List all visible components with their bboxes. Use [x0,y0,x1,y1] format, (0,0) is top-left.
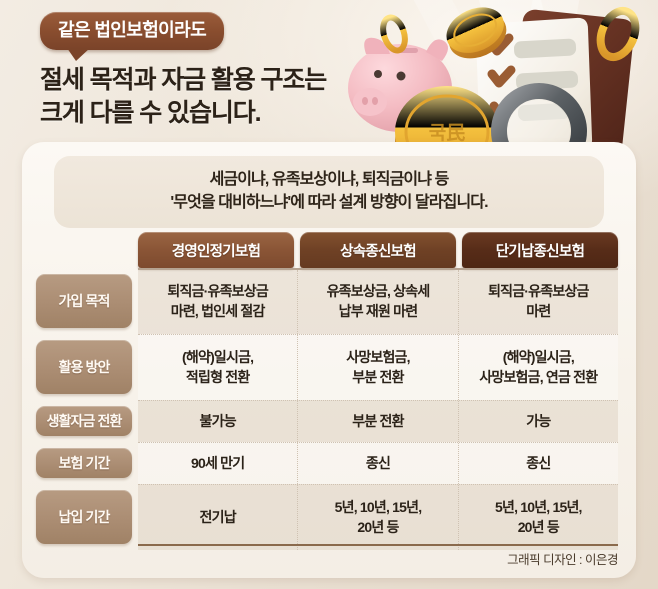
row-label: 생활자금 전환 [36,406,132,436]
row-label-cell: 활용 방안 [30,334,138,400]
gold-coin-icon [439,0,513,67]
subtitle-box: 세금이냐, 유족보상이냐, 퇴직금이냐 등 '무엇을 대비하느냐'에 따라 설계… [54,156,604,228]
row-label: 가입 목적 [36,274,132,328]
table-cell: 5년, 10년, 15년, 20년 등 [297,485,457,550]
row-label: 활용 방안 [36,340,132,394]
table-row: 보험 기간 90세 만기 종신 종신 [30,442,618,484]
table-row: 활용 방안 (해약)일시금, 적립형 전환 사망보험금, 부분 전환 (해약)일… [30,334,618,400]
table-row: 납입 기간 전기납 5년, 10년, 15년, 20년 등 5년, 10년, 1… [30,484,618,550]
subtitle-line-2: '무엇을 대비하느냐'에 따라 설계 방향이 달라집니다. [64,191,594,214]
table-cell: 전기납 [138,485,297,550]
table-cell: 5년, 10년, 15년, 20년 등 [458,485,618,550]
row-label: 보험 기간 [36,448,132,478]
table-cell: 가능 [458,401,618,442]
table-cell: 90세 만기 [138,443,297,484]
table-header-row: 경영인정기보험 상속종신보험 단기납종신보험 [138,232,618,268]
content-card: 세금이냐, 유족보상이냐, 퇴직금이냐 등 '무엇을 대비하느냐'에 따라 설계… [22,142,636,578]
badge-bubble: 같은 법인보험이라도 [40,12,224,50]
table-column-header: 상속종신보험 [300,232,456,268]
table-row: 생활자금 전환 불가능 부분 전환 가능 [30,400,618,442]
comparison-table: 경영인정기보험 상속종신보험 단기납종신보험 가입 목적 퇴직금·유족보상금 마… [30,232,628,568]
row-label-cell: 생활자금 전환 [30,400,138,442]
row-cells: (해약)일시금, 적립형 전환 사망보험금, 부분 전환 (해약)일시금, 사망… [138,334,618,400]
row-cells: 불가능 부분 전환 가능 [138,400,618,442]
table-bottom-rule [138,544,618,546]
table-cell: 불가능 [138,401,297,442]
credit-text: 그래픽 디자인 : 이은경 [507,549,618,568]
light-ray [506,0,586,161]
table-cell: (해약)일시금, 적립형 전환 [138,335,297,400]
table-cell: 퇴직금·유족보상금 마련, 법인세 절감 [138,270,297,334]
row-label-cell: 가입 목적 [30,268,138,334]
row-label: 납입 기간 [36,490,132,544]
table-cell: 종신 [297,443,457,484]
table-body: 가입 목적 퇴직금·유족보상금 마련, 법인세 절감 유족보상금, 상속세 납부… [30,268,618,546]
row-cells: 90세 만기 종신 종신 [138,442,618,484]
gold-ring-icon [594,6,642,62]
table-cell: 퇴직금·유족보상금 마련 [458,270,618,334]
title-line-1: 절세 목적과 자금 활용 구조는 [40,64,440,98]
infographic-root: 국民 같은 법인보험이라도 절세 목적과 자금 활용 구조는 크게 다를 수 있… [0,0,658,589]
title-line-2: 크게 다를 수 있습니다. [40,97,440,131]
table-column-header: 경영인정기보험 [138,232,294,268]
table-column-header: 단기납종신보험 [462,232,618,268]
table-row: 가입 목적 퇴직금·유족보상금 마련, 법인세 절감 유족보상금, 상속세 납부… [30,268,618,334]
table-cell: 사망보험금, 부분 전환 [297,335,457,400]
row-label-cell: 보험 기간 [30,442,138,484]
table-cell: 유족보상금, 상속세 납부 재원 마련 [297,270,457,334]
table-cell: 종신 [458,443,618,484]
page-title: 절세 목적과 자금 활용 구조는 크게 다를 수 있습니다. [40,64,440,131]
row-cells: 전기납 5년, 10년, 15년, 20년 등 5년, 10년, 15년, 20… [138,484,618,550]
headline-block: 같은 법인보험이라도 절세 목적과 자금 활용 구조는 크게 다를 수 있습니다… [40,12,440,131]
row-label-cell: 납입 기간 [30,484,138,550]
row-cells: 퇴직금·유족보상금 마련, 법인세 절감 유족보상금, 상속세 납부 재원 마련… [138,268,618,334]
light-ray [471,0,573,142]
subtitle-line-1: 세금이냐, 유족보상이냐, 퇴직금이냐 등 [64,168,594,191]
table-cell: 부분 전환 [297,401,457,442]
table-cell: (해약)일시금, 사망보험금, 연금 전환 [458,335,618,400]
